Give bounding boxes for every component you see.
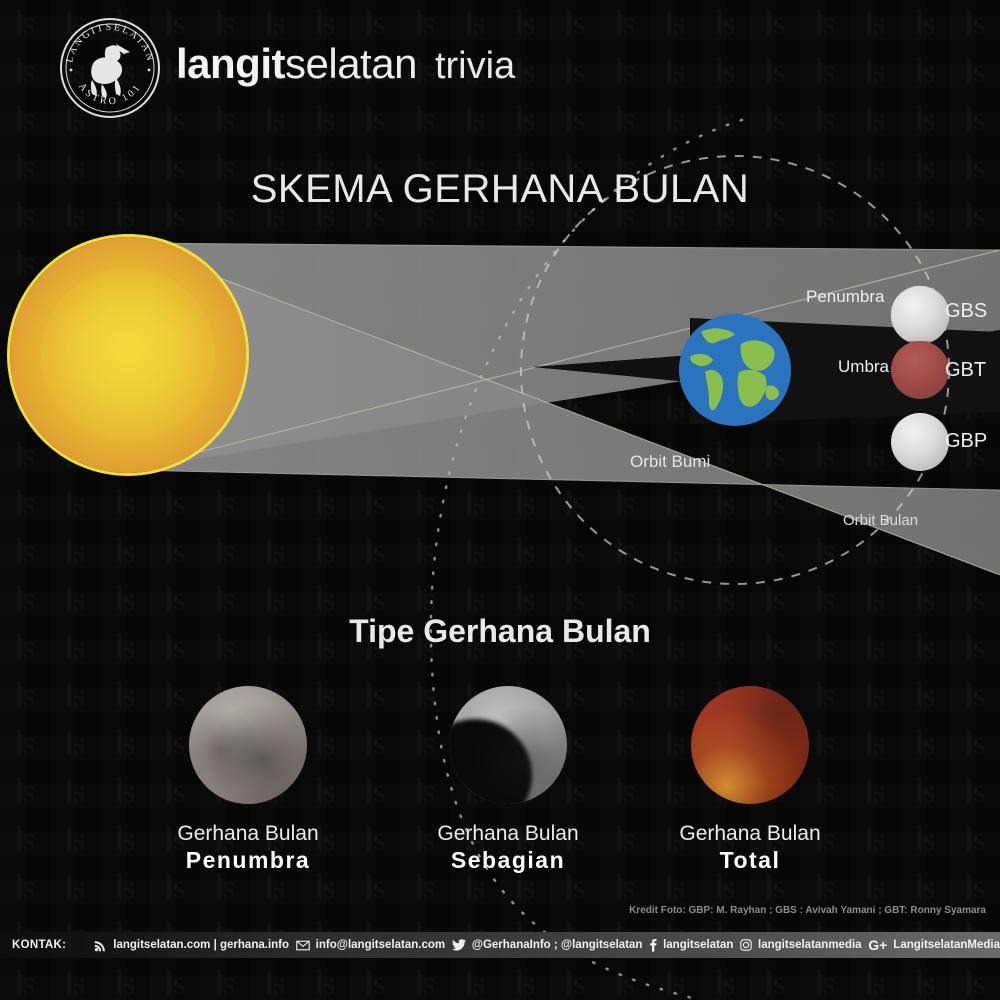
logo-rider-figure — [91, 44, 130, 98]
svg-text:ASTRO 101: ASTRO 101 — [76, 81, 144, 107]
moon-caption: Gerhana Bulan Sebagian — [388, 822, 628, 874]
moon-photo-total — [691, 686, 809, 804]
label-gbs: GBS — [945, 300, 987, 323]
footer-item-label: langitselatan.com | gerhana.info — [113, 939, 289, 951]
moon-marker-gbt — [891, 341, 949, 399]
moon-type-card-total: Gerhana Bulan Total — [630, 686, 870, 874]
footer-item-label: @GerhanaInfo ; @langitselatan — [472, 939, 643, 951]
moon-type-card-penumbra: Gerhana Bulan Penumbra — [128, 686, 368, 874]
facebook-icon — [649, 938, 657, 952]
label-gbt: GBT — [945, 359, 986, 382]
moon-photo-partial — [449, 686, 567, 804]
label-umbra: Umbra — [838, 357, 889, 377]
wordmark-selatan: selatan — [285, 40, 417, 87]
section-subtitle: Tipe Gerhana Bulan — [0, 613, 1000, 650]
moon-caption-line1: Gerhana Bulan — [388, 822, 628, 847]
footer-item-googleplus[interactable]: G+ LangitselatanMedia — [868, 937, 1000, 953]
envelope-icon — [296, 940, 310, 951]
footer-item-twitter[interactable]: @GerhanaInfo ; @langitselatan — [452, 939, 643, 951]
logo-arc-bottom: ASTRO 101 — [76, 81, 144, 107]
rss-icon — [94, 939, 107, 952]
label-gbp: GBP — [945, 430, 987, 453]
wordmark-trivia: trivia — [435, 45, 515, 87]
footer-item-instagram[interactable]: langitselatanmedia — [740, 939, 862, 951]
moon-type-card-sebagian: Gerhana Bulan Sebagian — [388, 686, 628, 874]
moon-caption-line1: Gerhana Bulan — [630, 822, 870, 847]
footer-kontak-label: KONTAK: — [12, 939, 66, 951]
footer-item-email[interactable]: info@langitselatan.com — [296, 939, 445, 951]
moon-caption: Gerhana Bulan Penumbra — [128, 822, 368, 874]
earth — [679, 314, 791, 426]
moon-photo-penumbral — [189, 686, 307, 804]
moon-caption-line2: Sebagian — [388, 847, 628, 874]
photo-credit: Kredit Foto: GBP: M. Rayhan ; GBS : Aviv… — [629, 905, 986, 916]
label-orbit-bulan: Orbit Bulan — [843, 512, 918, 529]
instagram-icon — [740, 939, 752, 951]
googleplus-icon: G+ — [868, 937, 887, 953]
wordmark-langit: langit — [176, 40, 285, 87]
twitter-icon — [452, 939, 466, 951]
footer-item-facebook[interactable]: langitselatan — [649, 938, 733, 952]
sun-core — [41, 268, 216, 443]
infographic-page: lslslslslslslslslslslslslslslslslslslsls… — [0, 0, 1000, 1000]
page-title: SKEMA GERHANA BULAN — [0, 167, 1000, 212]
wordmark: langitselatantrivia — [176, 40, 515, 88]
contact-footer: KONTAK: langitselatan.com | gerhana.info… — [0, 932, 1000, 958]
footer-item-website[interactable]: langitselatan.com | gerhana.info — [94, 939, 289, 952]
langitselatan-logo: LANGITSELATAN ASTRO 101 — [58, 16, 162, 120]
moon-caption-line1: Gerhana Bulan — [128, 822, 368, 847]
footer-item-label: LangitselatanMedia — [893, 939, 1000, 951]
sun — [10, 237, 246, 473]
footer-item-label: info@langitselatan.com — [316, 939, 445, 951]
moon-caption-line2: Penumbra — [128, 847, 368, 874]
moon-marker-gbp — [891, 413, 949, 471]
footer-item-label: langitselatanmedia — [758, 939, 862, 951]
label-penumbra: Penumbra — [806, 287, 884, 307]
moon-caption-line2: Total — [630, 847, 870, 874]
footer-item-label: langitselatan — [663, 939, 733, 951]
moon-caption: Gerhana Bulan Total — [630, 822, 870, 874]
label-orbit-bumi: Orbit Bumi — [630, 452, 710, 472]
